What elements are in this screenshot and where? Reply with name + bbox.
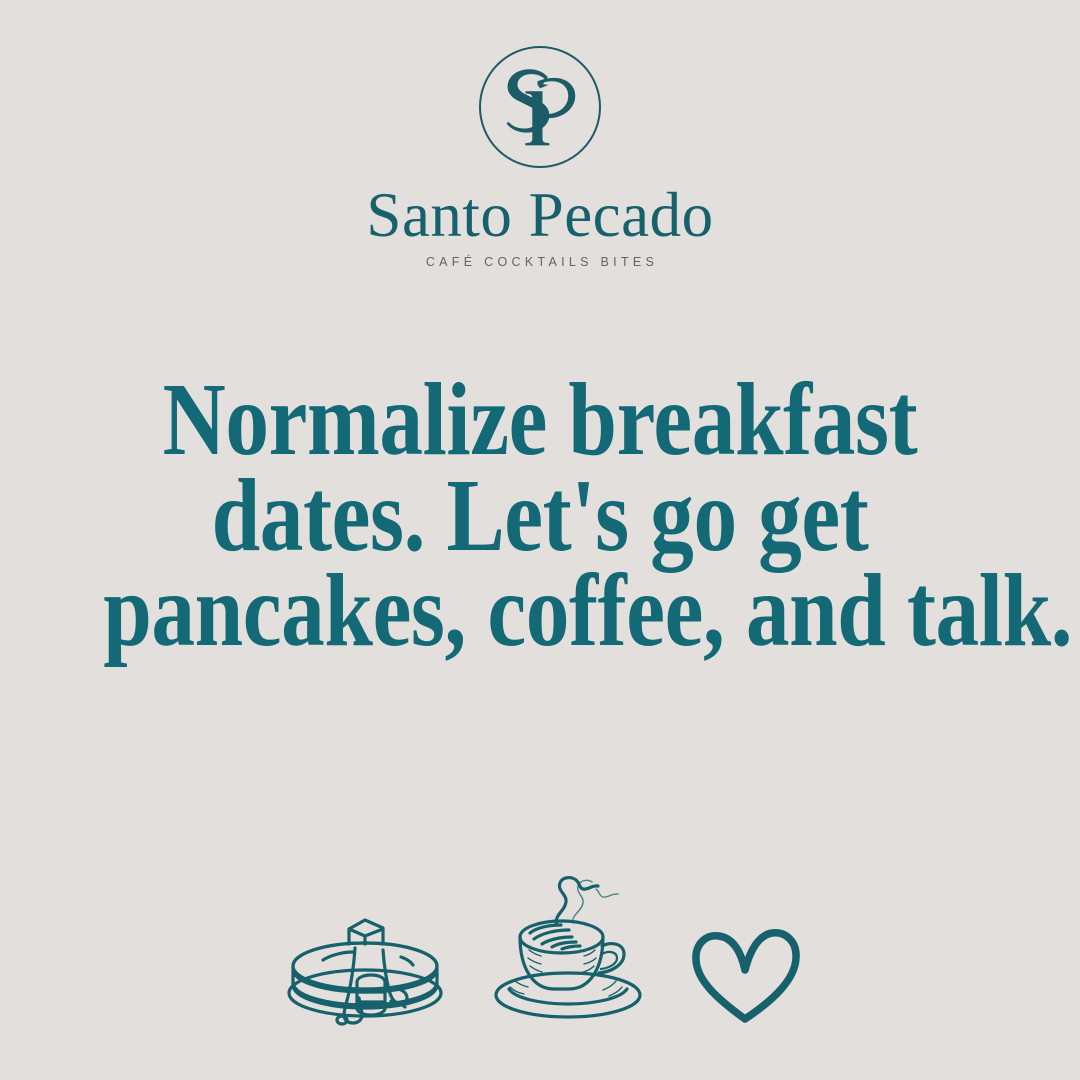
social-post-canvas: Santo Pecado CAFÉ COCKTAILS BITES Normal… (0, 0, 1080, 1080)
page-title: Normalize breakfast dates. Let's go get … (103, 372, 977, 659)
coffee-cup-icon (485, 853, 655, 1028)
headline-line-3: pancakes, coffee, and talk. (103, 563, 977, 659)
brand-lockup: Santo Pecado CAFÉ COCKTAILS BITES (0, 44, 1080, 269)
headline-line-1: Normalize breakfast (103, 372, 977, 468)
sp-monogram-circle-logo (477, 44, 603, 170)
brand-name: Santo Pecado (366, 184, 713, 247)
decorative-icon-row (0, 848, 1080, 1028)
headline-line-2: dates. Let's go get (103, 468, 977, 564)
brand-tagline: CAFÉ COCKTAILS BITES (422, 256, 658, 269)
heart-icon (689, 924, 801, 1028)
pancakes-stack-icon (279, 900, 451, 1028)
